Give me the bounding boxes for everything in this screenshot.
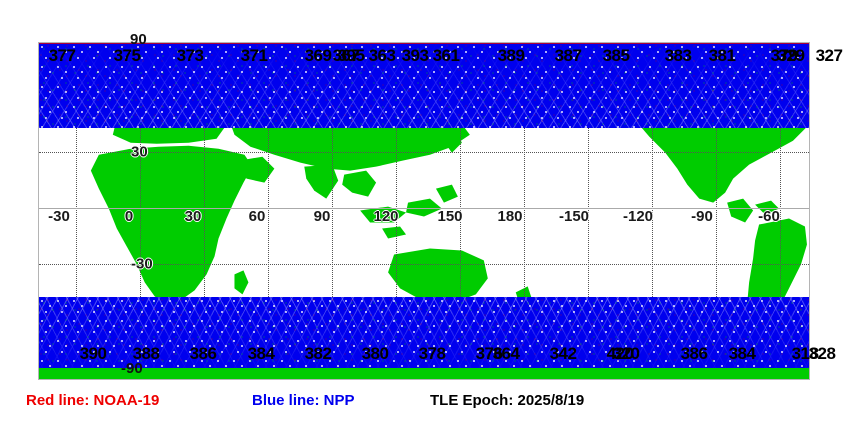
orbit-number-label: 383 (665, 46, 692, 66)
orbit-number-label: 369 (305, 46, 332, 66)
gridline-parallel (39, 152, 809, 153)
orbit-number-label: 373 (177, 46, 204, 66)
orbit-number-label: 389 (498, 46, 525, 66)
orbit-number-label: 384 (248, 344, 275, 364)
orbit-number-label: 386 (681, 344, 708, 364)
orbit-number-label: 385 (603, 46, 630, 66)
orbit-number-label: 361 (433, 46, 460, 66)
legend-bar: Red line: NOAA-19 Blue line: NPP TLE Epo… (0, 392, 850, 420)
orbit-number-label: 386 (190, 344, 217, 364)
gridline-parallel (39, 264, 809, 265)
longitude-tick-label: 120 (373, 208, 398, 225)
longitude-tick-label: -90 (691, 208, 713, 225)
orbit-number-label: 327 (816, 46, 843, 66)
longitude-tick-label: -60 (758, 208, 780, 225)
orbit-number-label: 380 (362, 344, 389, 364)
orbit-number-label: 381 (709, 46, 736, 66)
legend-blue-line: Blue line: NPP (252, 392, 355, 409)
latitude-tick-label: -30 (131, 256, 153, 273)
orbit-number-label: 382 (305, 344, 332, 364)
orbit-numbers-north: 3773753733713693673953633933613893873853… (0, 46, 850, 66)
orbit-number-label: 384 (729, 344, 756, 364)
latitude-label-south-pole: -90 (121, 360, 143, 377)
orbit-number-label: 377 (49, 46, 76, 66)
world-map-panel: -300306090120150180-150-120-90-60 30-30 (38, 42, 810, 380)
orbit-number-label: 364 (493, 344, 520, 364)
longitude-tick-label: 150 (437, 208, 462, 225)
orbit-number-label: 390 (80, 344, 107, 364)
orbit-number-label: 387 (555, 46, 582, 66)
longitude-tick-label: -30 (48, 208, 70, 225)
latitude-tick-label: 30 (131, 144, 148, 161)
orbit-number-label: 363 (369, 46, 396, 66)
orbit-number-label: 371 (241, 46, 268, 66)
orbit-number-label: 395 (338, 46, 365, 66)
orbit-number-label: 342 (550, 344, 577, 364)
legend-red-line: Red line: NOAA-19 (26, 392, 159, 409)
longitude-tick-label: -150 (559, 208, 589, 225)
antarctica-landmass (39, 368, 809, 379)
orbit-number-label: 393 (402, 46, 429, 66)
orbit-number-label: 320 (613, 344, 640, 364)
longitude-tick-label: 0 (125, 208, 133, 225)
orbit-number-label: 329 (778, 46, 805, 66)
longitude-tick-label: 90 (314, 208, 331, 225)
legend-tle-epoch: TLE Epoch: 2025/8/19 (430, 392, 584, 409)
orbit-number-label: 328 (809, 344, 836, 364)
longitude-tick-label: 180 (497, 208, 522, 225)
orbit-number-label: 375 (114, 46, 141, 66)
orbit-number-label: 378 (419, 344, 446, 364)
longitude-tick-label: -120 (623, 208, 653, 225)
longitude-tick-label: 30 (185, 208, 202, 225)
longitude-tick-label: 60 (249, 208, 266, 225)
